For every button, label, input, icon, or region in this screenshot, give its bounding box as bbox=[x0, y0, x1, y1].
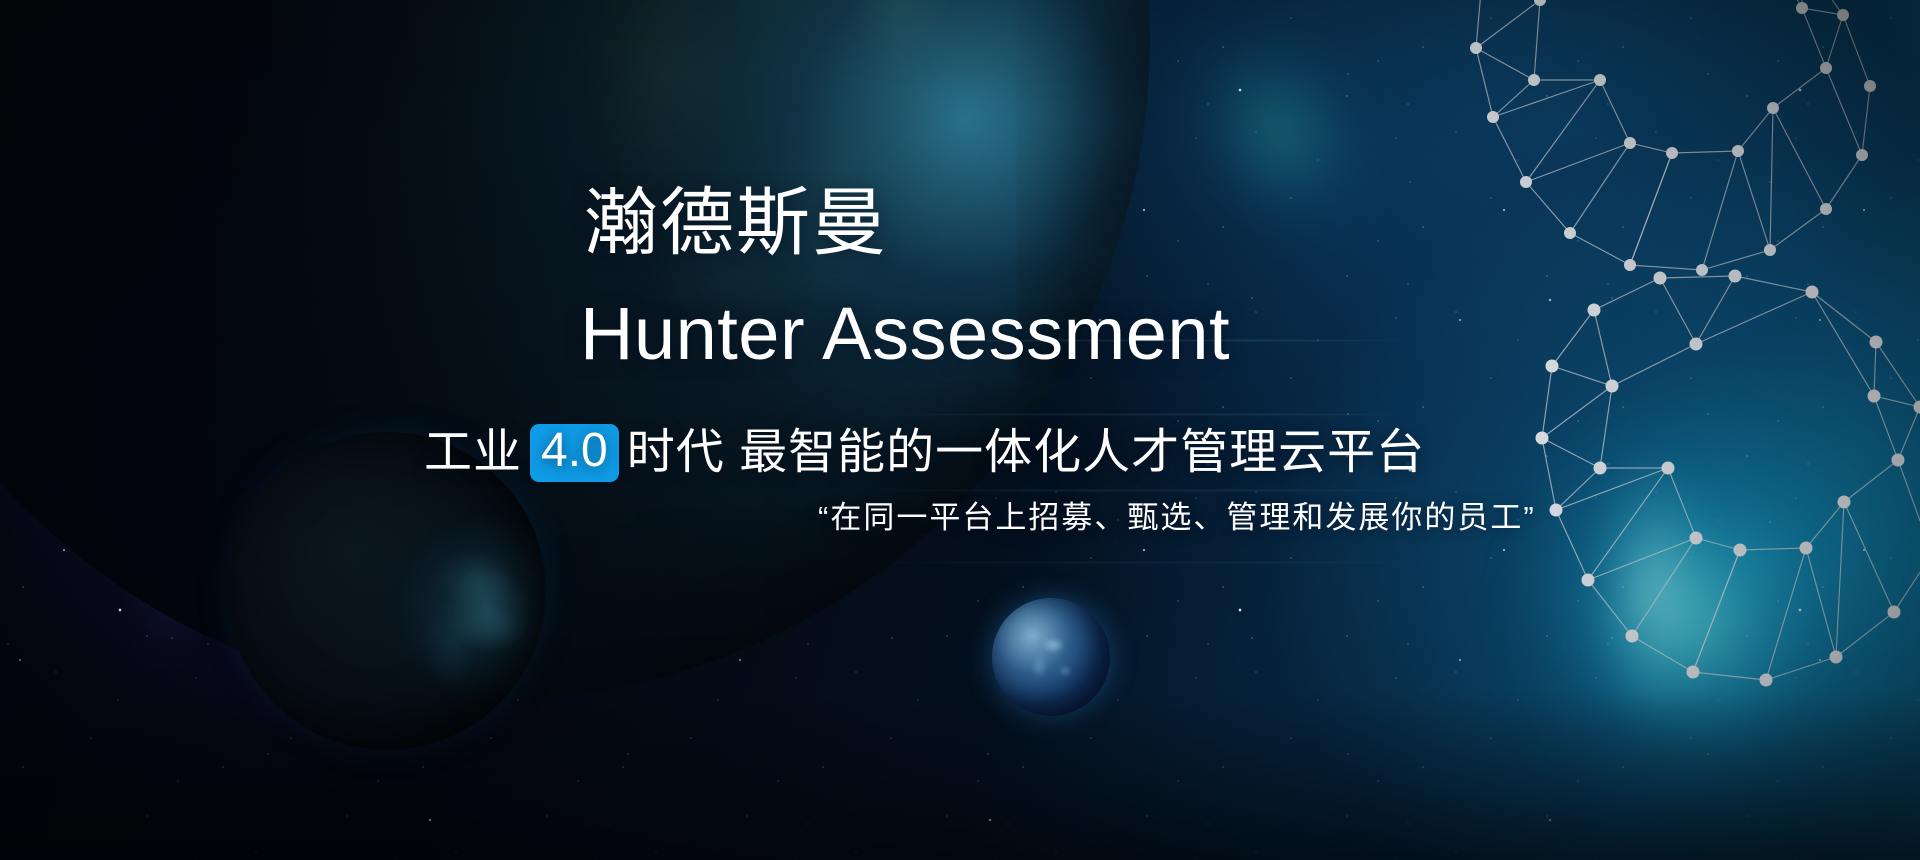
industry-version-badge: 4.0 bbox=[530, 424, 619, 482]
brand-title-chinese: 瀚德斯曼 bbox=[584, 186, 888, 260]
tagline-quote: “在同一平台上招募、甄选、管理和发展你的员工” bbox=[818, 502, 1536, 533]
tagline: 工业 4.0 时代 最智能的一体化人才管理云平台 bbox=[424, 424, 1425, 482]
tagline-prefix: 工业 bbox=[424, 429, 522, 477]
hero-banner: 瀚德斯曼 Hunter Assessment 工业 4.0 时代 最智能的一体化… bbox=[0, 0, 1920, 860]
brand-title-english: Hunter Assessment bbox=[580, 297, 1230, 371]
hero-copy: 瀚德斯曼 Hunter Assessment 工业 4.0 时代 最智能的一体化… bbox=[0, 0, 1920, 860]
tagline-suffix: 时代 最智能的一体化人才管理云平台 bbox=[627, 429, 1425, 477]
